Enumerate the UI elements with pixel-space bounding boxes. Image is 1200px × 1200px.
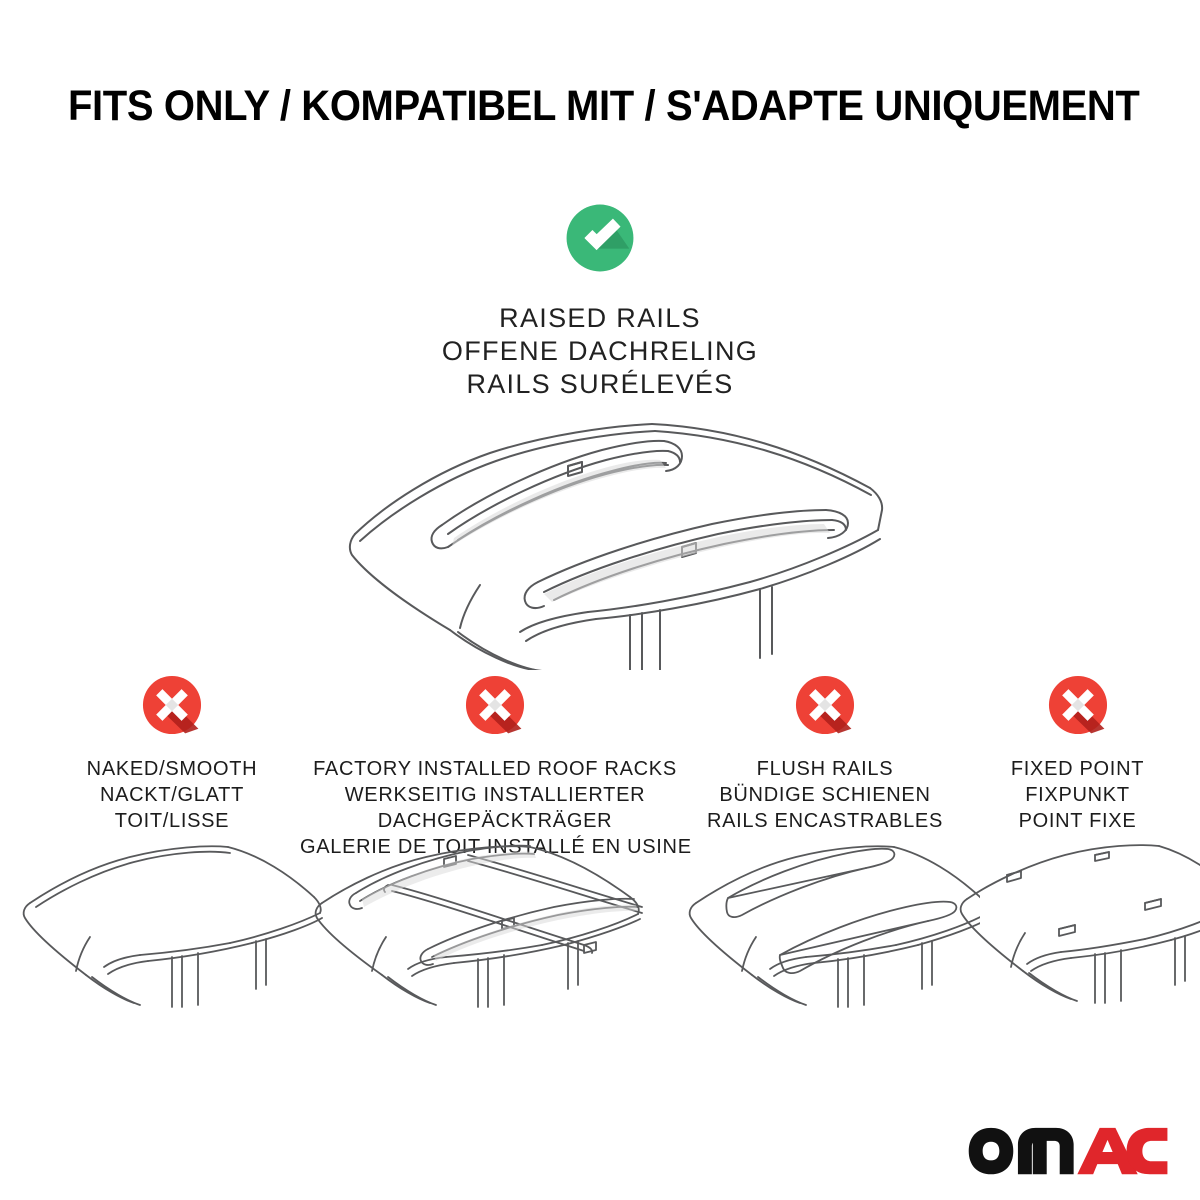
car-roof-flush-rails-illustration <box>680 837 970 1042</box>
incompatible-item-factory-roof-racks: FACTORY INSTALLED ROOF RACKS WERKSEITIG … <box>300 672 690 860</box>
caption-line: TOIT/LISSE <box>12 808 332 834</box>
incompatible-item-naked-smooth: NAKED/SMOOTH NACKT/GLATT TOIT/LISSE <box>12 672 332 834</box>
page-title: FITS ONLY / KOMPATIBEL MIT / S'ADAPTE UN… <box>68 84 1063 129</box>
car-roof-fixed-point-illustration <box>955 837 1200 1042</box>
caption-line: FIXPUNKT <box>955 782 1200 808</box>
incompatible-caption-flush-rails: FLUSH RAILS BÜNDIGE SCHIENEN RAILS ENCAS… <box>680 756 970 834</box>
caption-line: RAILS ENCASTRABLES <box>680 808 970 834</box>
compatible-caption-line-3: RAILS SURÉLEVÉS <box>0 368 1200 401</box>
car-roof-factory-roof-racks-illustration <box>300 837 690 1042</box>
car-roof-raised-rails-illustration <box>330 410 890 670</box>
caption-line: FACTORY INSTALLED ROOF RACKS <box>300 756 690 782</box>
caption-line: FLUSH RAILS <box>680 756 970 782</box>
cross-circle-icon <box>462 672 528 738</box>
caption-line: BÜNDIGE SCHIENEN <box>680 782 970 808</box>
compatible-section: RAISED RAILS OFFENE DACHRELING RAILS SUR… <box>0 200 1200 401</box>
omac-logo <box>966 1126 1172 1178</box>
caption-line: NACKT/GLATT <box>12 782 332 808</box>
incompatible-caption-fixed-point: FIXED POINT FIXPUNKT POINT FIXE <box>955 756 1200 834</box>
caption-line: NAKED/SMOOTH <box>12 756 332 782</box>
compatible-caption-line-2: OFFENE DACHRELING <box>0 335 1200 368</box>
omac-logo-mark <box>969 1128 1168 1174</box>
incompatible-item-flush-rails: FLUSH RAILS BÜNDIGE SCHIENEN RAILS ENCAS… <box>680 672 970 834</box>
cross-circle-icon <box>792 672 858 738</box>
cross-circle-icon <box>139 672 205 738</box>
check-circle-icon <box>562 200 638 276</box>
incompatible-caption-naked-smooth: NAKED/SMOOTH NACKT/GLATT TOIT/LISSE <box>12 756 332 834</box>
car-roof-naked-smooth-illustration <box>12 837 332 1042</box>
caption-line: FIXED POINT <box>955 756 1200 782</box>
compatible-caption-line-1: RAISED RAILS <box>0 302 1200 335</box>
incompatible-item-fixed-point: FIXED POINT FIXPUNKT POINT FIXE <box>955 672 1200 834</box>
compatible-caption: RAISED RAILS OFFENE DACHRELING RAILS SUR… <box>0 302 1200 401</box>
caption-line: WERKSEITIG INSTALLIERTER <box>300 782 690 808</box>
incompatible-section: NAKED/SMOOTH NACKT/GLATT TOIT/LISSE <box>0 672 1200 1092</box>
compatibility-infographic: FITS ONLY / KOMPATIBEL MIT / S'ADAPTE UN… <box>0 0 1200 1200</box>
caption-line: DACHGEPÄCKTRÄGER <box>300 808 690 834</box>
caption-line: POINT FIXE <box>955 808 1200 834</box>
cross-circle-icon <box>1045 672 1111 738</box>
